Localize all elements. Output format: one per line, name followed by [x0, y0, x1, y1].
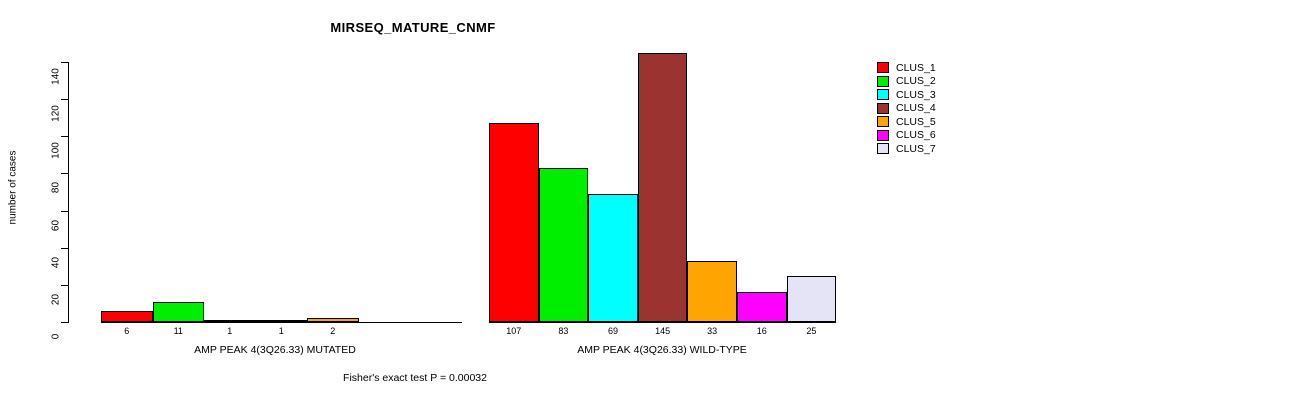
- legend-label: CLUS_7: [896, 143, 936, 155]
- bar[interactable]: [787, 276, 837, 322]
- bar[interactable]: [101, 311, 153, 322]
- bar[interactable]: [204, 320, 256, 322]
- plot-area: 611112AMP PEAK 4(3Q26.33) MUTATED1078369…: [0, 0, 1290, 400]
- legend-label: CLUS_2: [896, 75, 936, 87]
- bar[interactable]: [588, 194, 638, 322]
- bar[interactable]: [307, 318, 359, 322]
- bar-value-label: 25: [787, 326, 837, 336]
- legend-item[interactable]: CLUS_7: [877, 142, 936, 156]
- legend-swatch: [877, 143, 889, 154]
- legend-label: CLUS_3: [896, 89, 936, 101]
- bar-value-label: 1: [204, 326, 256, 336]
- bar[interactable]: [539, 168, 589, 322]
- bar-value-label: 16: [737, 326, 787, 336]
- legend-swatch: [877, 130, 889, 141]
- bar-value-label: 2: [307, 326, 359, 336]
- legend-item[interactable]: CLUS_4: [877, 102, 936, 116]
- legend-swatch: [877, 89, 889, 100]
- group-baseline: [489, 322, 836, 323]
- legend-label: CLUS_6: [896, 129, 936, 141]
- bar-value-label: 69: [588, 326, 638, 336]
- bar[interactable]: [638, 53, 688, 322]
- group-axis-label: AMP PEAK 4(3Q26.33) WILD-TYPE: [462, 344, 862, 356]
- bar-value-label: 33: [687, 326, 737, 336]
- bar-value-label: 6: [101, 326, 153, 336]
- legend: CLUS_1CLUS_2CLUS_3CLUS_4CLUS_5CLUS_6CLUS…: [877, 61, 936, 156]
- legend-label: CLUS_4: [896, 102, 936, 114]
- bar-value-label: 11: [153, 326, 205, 336]
- bar[interactable]: [737, 292, 787, 322]
- legend-item[interactable]: CLUS_6: [877, 129, 936, 143]
- legend-label: CLUS_1: [896, 62, 936, 74]
- bar-value-label: 107: [489, 326, 539, 336]
- bar[interactable]: [687, 261, 737, 322]
- legend-item[interactable]: CLUS_3: [877, 88, 936, 102]
- legend-swatch: [877, 116, 889, 127]
- legend-swatch: [877, 76, 889, 87]
- bar[interactable]: [153, 302, 205, 322]
- legend-item[interactable]: CLUS_5: [877, 115, 936, 129]
- legend-item[interactable]: CLUS_2: [877, 75, 936, 89]
- group-baseline: [101, 322, 462, 323]
- legend-label: CLUS_5: [896, 116, 936, 128]
- legend-swatch: [877, 103, 889, 114]
- bar-value-label: 1: [256, 326, 308, 336]
- legend-swatch: [877, 62, 889, 73]
- footer-annotation: Fisher's exact test P = 0.00032: [0, 372, 1060, 384]
- bar[interactable]: [489, 123, 539, 322]
- legend-item[interactable]: CLUS_1: [877, 61, 936, 75]
- bar-value-label: 145: [638, 326, 688, 336]
- group-axis-label: AMP PEAK 4(3Q26.33) MUTATED: [75, 344, 475, 356]
- bar-value-label: 83: [539, 326, 589, 336]
- chart-page: MIRSEQ_MATURE_CNMF number of cases 02040…: [0, 0, 1290, 400]
- bar[interactable]: [256, 320, 308, 322]
